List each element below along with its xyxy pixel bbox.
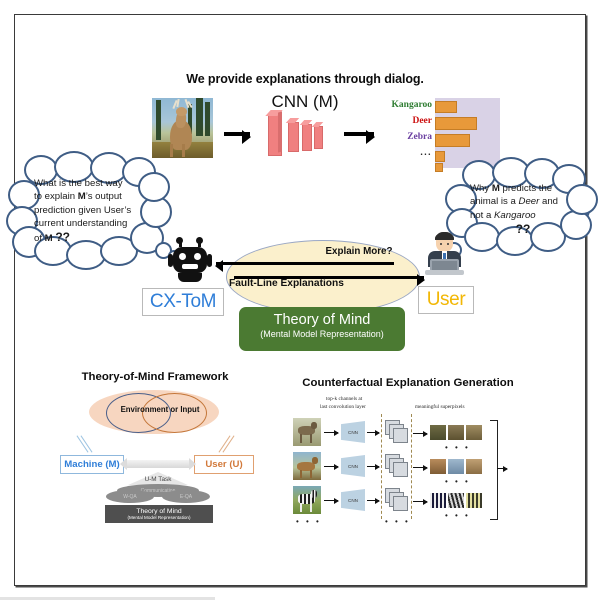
bar-other-2 — [435, 163, 443, 172]
cfeg-superpixel-1-2 — [448, 425, 464, 440]
cfeg-input-column-dots: • • • — [296, 517, 321, 526]
cfeg-superpixel-2-1 — [430, 459, 446, 474]
machine-thought-text: What is the best way to explain M’s outp… — [34, 177, 154, 245]
cfeg-superpixel-1-1 — [430, 425, 446, 440]
machine-thought-line2-bold: M — [78, 191, 86, 202]
cfeg-cnn-3: CNN — [341, 489, 365, 511]
theory-of-mind-subtitle: (Mental Model Representation) — [239, 329, 405, 339]
cfeg-arrow-2b — [367, 466, 379, 467]
user-thought-bubble: Why M predicts the animal is a Deer and … — [456, 170, 590, 242]
cfeg-superpixel-3-3 — [466, 493, 482, 508]
um-task-label: U-M Task — [128, 476, 188, 483]
machine-thought-line2-post: ’s output — [86, 191, 122, 202]
cfeg-cnn-1: CNN — [341, 421, 365, 443]
figure-headline: We provide explanations through dialog. — [180, 72, 430, 86]
tom-framework-diagram: Environment or Input Machine (M) User (U… — [60, 386, 255, 521]
cfeg-caption-channels-line2: last convolution layer — [320, 404, 366, 410]
cfeg-input-thumb-3 — [293, 486, 321, 514]
machine-thought-line5-pre: of — [34, 233, 45, 244]
machine-thought-question-marks: ?? — [55, 230, 70, 244]
bar-deer — [435, 117, 477, 130]
cfeg-caption-superpixels: meaningful superpixels — [415, 404, 465, 410]
cfeg-arrow-3c — [413, 501, 427, 502]
user-thought-line1-pre: Why — [470, 183, 492, 194]
wqa-oval: W-QA — [106, 490, 154, 503]
cnn-layer-stack — [268, 110, 332, 160]
user-thought-question-marks: ?? — [516, 222, 531, 236]
prediction-label-deer: Deer — [382, 116, 432, 126]
eqa-label: E-QA — [180, 494, 192, 500]
tom-bar: Theory of Mind (Mental Model Representat… — [105, 505, 213, 523]
machine-thought-line3: prediction given User’s — [34, 205, 131, 216]
cx-tom-label-box: CX-ToM — [142, 288, 224, 316]
machine-thought-line2-pre: to explain — [34, 191, 78, 202]
cfeg-caption-channels-line1: top-k channels at — [326, 396, 362, 402]
user-u-box: User (U) — [194, 455, 254, 474]
cfeg-superpixel-3-2 — [448, 493, 464, 508]
eqa-oval: E-QA — [162, 490, 210, 503]
cfeg-superpixel-2-2 — [448, 459, 464, 474]
robot-icon — [168, 240, 212, 284]
theory-of-mind-title: Theory of Mind — [239, 312, 405, 328]
cfeg-title: Counterfactual Explanation Generation — [283, 377, 533, 389]
cfeg-cnn-2-label: CNN — [348, 464, 358, 469]
cfeg-cnn-3-label: CNN — [348, 498, 358, 503]
user-label: User — [427, 289, 466, 311]
tom-framework-title: Theory-of-Mind Framework — [60, 371, 250, 383]
user-label-box: User — [418, 286, 474, 314]
cfeg-arrow-2a — [324, 466, 338, 467]
cfeg-arrow-2c — [413, 467, 427, 468]
user-thought-line1-post: predicts the — [500, 183, 552, 194]
tom-bar-title: Theory of Mind — [105, 508, 213, 515]
page-bottom-rule — [0, 597, 215, 600]
cfeg-input-thumb-2 — [293, 452, 321, 480]
machine-thought-line5-bold: M — [45, 233, 53, 244]
user-thought-line2-pre: animal is a — [470, 196, 519, 207]
cfeg-diagram: top-k channels at last convolution layer… — [293, 392, 528, 522]
tom-bar-subtitle: (Mental Model Representation) — [105, 515, 213, 520]
cfeg-arrow-3b — [367, 500, 379, 501]
arrow-cnn-to-prediction — [344, 132, 374, 136]
cx-tom-label: CX-ToM — [150, 291, 216, 313]
user-thought-line1-bold: M — [492, 183, 500, 194]
cfeg-arrow-1c — [413, 433, 427, 434]
machine-thought-line4: current understanding — [34, 218, 127, 229]
prediction-bar-chart: Kangaroo Deer Zebra ... — [387, 98, 500, 168]
cnn-model-label: CNN (M) — [250, 92, 360, 112]
machine-thought-line1: What is the best way — [34, 178, 123, 189]
prediction-label-kangaroo: Kangaroo — [382, 100, 432, 110]
prediction-plot-area — [435, 98, 500, 168]
cfeg-row1-dots: • • • — [445, 443, 470, 452]
machine-m-box: Machine (M) — [60, 455, 124, 474]
user-thought-line2-post: and — [539, 196, 558, 207]
theory-of-mind-box: Theory of Mind (Mental Model Representat… — [239, 307, 405, 351]
user-thought-line3-pre: not a — [470, 210, 494, 221]
user-avatar-icon — [420, 232, 468, 284]
machine-thought-bubble: What is the best way to explain M’s outp… — [18, 164, 164, 256]
cfeg-superpixel-3-1 — [430, 493, 446, 508]
cfeg-output-arrow — [497, 468, 507, 469]
arrow-image-to-cnn — [224, 132, 250, 136]
user-thought-text: Why M predicts the animal is a Deer and … — [470, 182, 582, 238]
wqa-label: W-QA — [123, 494, 137, 500]
cfeg-superpixel-2-3 — [466, 459, 482, 474]
fault-line-explanations-label: Fault-Line Explanations — [229, 278, 377, 289]
cfeg-superpixel-1-3 — [466, 425, 482, 440]
explain-more-label: Explain More? — [300, 246, 418, 257]
input-deer-image — [152, 98, 213, 158]
user-thought-kangaroo: Kangaroo — [494, 210, 536, 221]
cfeg-arrow-1b — [367, 432, 379, 433]
cnn-model-label-text: CNN (M) — [271, 92, 338, 111]
prediction-label-ellipsis: ... — [382, 148, 432, 158]
cfeg-right-bracket — [490, 420, 498, 520]
cfeg-arrow-1a — [324, 432, 338, 433]
user-thought-deer: Deer — [519, 196, 540, 207]
environment-label: Environment or Input — [115, 405, 205, 414]
cfeg-cnn-2: CNN — [341, 455, 365, 477]
cfeg-row2-dots: • • • — [445, 477, 470, 486]
cfeg-arrow-3a — [324, 500, 338, 501]
machine-user-double-arrow — [126, 460, 190, 468]
cfeg-cnn-1-label: CNN — [348, 430, 358, 435]
bar-zebra — [435, 134, 470, 147]
prediction-label-zebra: Zebra — [382, 132, 432, 142]
bar-other — [435, 151, 445, 162]
arrow-user-to-machine — [216, 262, 394, 265]
cfeg-channel-column-dots: • • • — [385, 517, 410, 526]
bar-kangaroo — [435, 101, 457, 113]
machine-m-label: Machine (M) — [64, 459, 119, 470]
cfeg-row3-dots: • • • — [445, 511, 470, 520]
cfeg-input-thumb-1 — [293, 418, 321, 446]
user-u-label: User (U) — [205, 459, 242, 470]
